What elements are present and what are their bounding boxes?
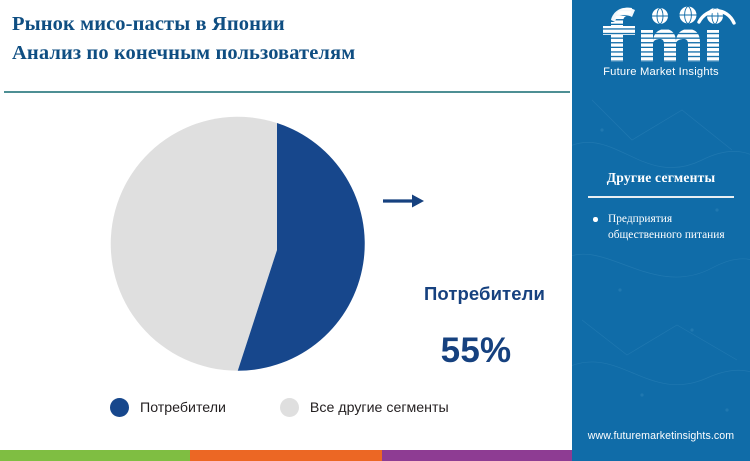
infographic-canvas: Рынок мисо‑пасты в Японии Анализ по коне…: [0, 0, 750, 461]
pie-chart-area: Потребители 55%: [0, 93, 572, 443]
segment-label: Предприятия общественного питания: [608, 213, 725, 241]
chart-legend: Потребители Все другие сегменты: [110, 398, 490, 417]
globe-icons: [652, 6, 735, 25]
fmi-logo-mark: [585, 2, 737, 68]
legend-item-other-segments[interactable]: Все другие сегменты: [280, 398, 449, 417]
legend-label-other-segments: Все другие сегменты: [310, 400, 449, 416]
site-url: www.futuremarketinsights.com: [572, 430, 750, 442]
title-line-2: Анализ по конечным пользователям: [12, 39, 564, 68]
callout-value: 55%: [424, 331, 528, 371]
other-segments-divider: [588, 196, 734, 198]
bullet-icon: [593, 217, 598, 222]
legend-item-consumers[interactable]: Потребители: [110, 398, 226, 417]
other-segments-list: Предприятия общественного питания: [586, 212, 736, 253]
strip-segment-purple: [382, 450, 572, 461]
strip-segment-green: [0, 450, 190, 461]
callout-label: Потребители: [424, 283, 545, 305]
sidebar: Future Market Insights Другие сегменты П…: [572, 0, 750, 461]
strip-segment-orange: [190, 450, 382, 461]
legend-label-consumers: Потребители: [140, 400, 226, 416]
legend-swatch-other-segments: [280, 398, 299, 417]
logo-tagline: Future Market Insights: [572, 66, 750, 78]
page-title: Рынок мисо‑пасты в Японии Анализ по коне…: [12, 10, 564, 68]
list-item: Предприятия общественного питания: [586, 212, 736, 243]
header: Рынок мисо‑пасты в Японии Анализ по коне…: [0, 0, 572, 93]
arrow-right-icon: [383, 195, 424, 208]
bottom-color-strip: [0, 450, 572, 461]
fmi-logo: Future Market Insights: [572, 2, 750, 90]
other-segments-title: Другие сегменты: [572, 170, 750, 186]
legend-swatch-consumers: [110, 398, 129, 417]
pie-chart: [0, 93, 572, 443]
title-line-1: Рынок мисо‑пасты в Японии: [12, 10, 564, 39]
